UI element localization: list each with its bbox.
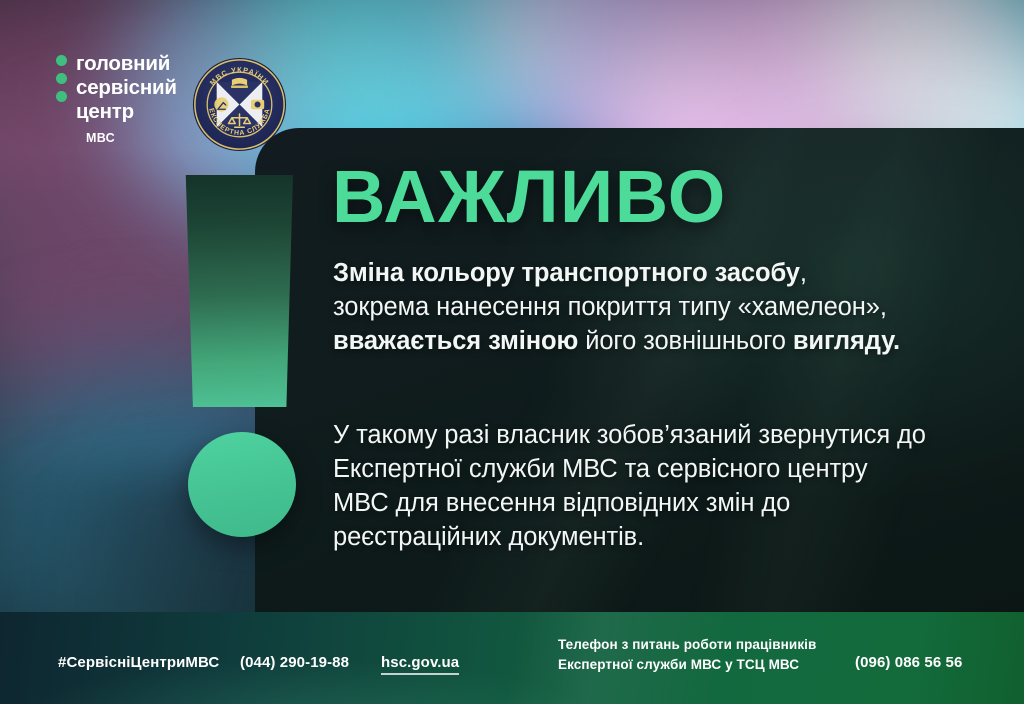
- mvs-expert-service-emblem-icon: МВС УКРАЇНИ ЕКСПЕРТНА СЛУЖБА: [192, 57, 287, 152]
- brand-line-2: сервісний: [76, 76, 177, 100]
- footer-phone-main[interactable]: (044) 290-19-88: [240, 654, 349, 671]
- brand-line-1: головний: [76, 52, 177, 76]
- paragraph-primary: Зміна кольору транспортного засобу, зокр…: [333, 256, 908, 358]
- footer-website-link[interactable]: hsc.gov.ua: [381, 654, 459, 675]
- brand-wordmark: головний сервісний центр МВС: [76, 52, 177, 145]
- footer-hashtag[interactable]: #СервісніЦентриМВС: [58, 654, 219, 671]
- footer-expert-note: Телефон з питань роботи працівників Експ…: [558, 635, 816, 674]
- paragraph-secondary: У такому разі власник зобов’язаний зверн…: [333, 418, 928, 555]
- page-title: ВАЖЛИВО: [332, 160, 727, 234]
- exclamation-mark-bar-icon: [183, 175, 293, 407]
- three-green-dots-icon: [56, 52, 67, 102]
- poster-canvas: головний сервісний центр МВС: [0, 0, 1024, 704]
- brand-logo[interactable]: головний сервісний центр МВС: [56, 52, 177, 145]
- footer-phone-expert[interactable]: (096) 086 56 56: [855, 654, 962, 671]
- brand-subtitle: МВС: [86, 131, 177, 146]
- exclamation-mark-dot-icon: [188, 432, 296, 537]
- brand-line-3: центр: [76, 100, 177, 124]
